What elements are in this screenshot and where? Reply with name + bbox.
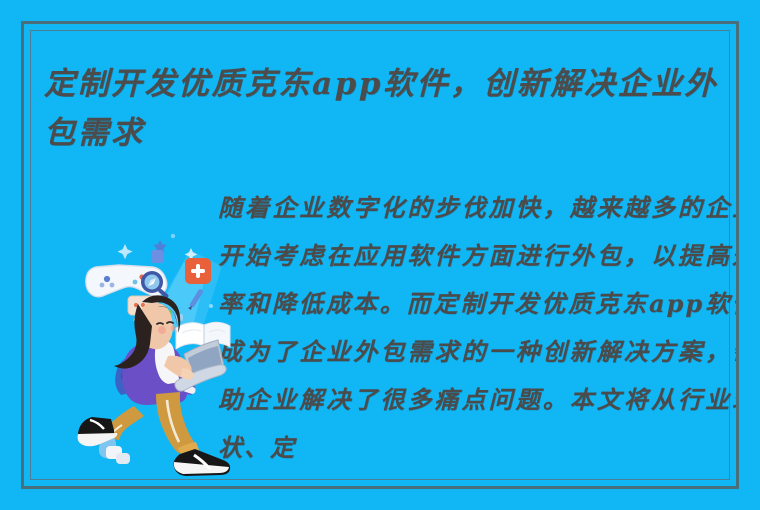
page-title: 定制开发优质克东app软件，创新解决企业外包需求 (44, 60, 736, 158)
article-cover-banner: 定制开发优质克东app软件，创新解决企业外包需求 随着企业数字化的步伐加快，越来… (0, 0, 760, 510)
floating-blocks (106, 446, 130, 464)
front-leg (156, 392, 230, 476)
hero-illustration (72, 210, 254, 478)
content-area: 定制开发优质克东app软件，创新解决企业外包需求 随着企业数字化的步伐加快，越来… (24, 24, 736, 486)
calendar-plus-icon (185, 258, 211, 284)
puzzle-icon (151, 250, 164, 263)
body-paragraph: 随着企业数字化的步伐加快，越来越多的企业开始考虑在应用软件方面进行外包，以提高效… (218, 184, 736, 472)
